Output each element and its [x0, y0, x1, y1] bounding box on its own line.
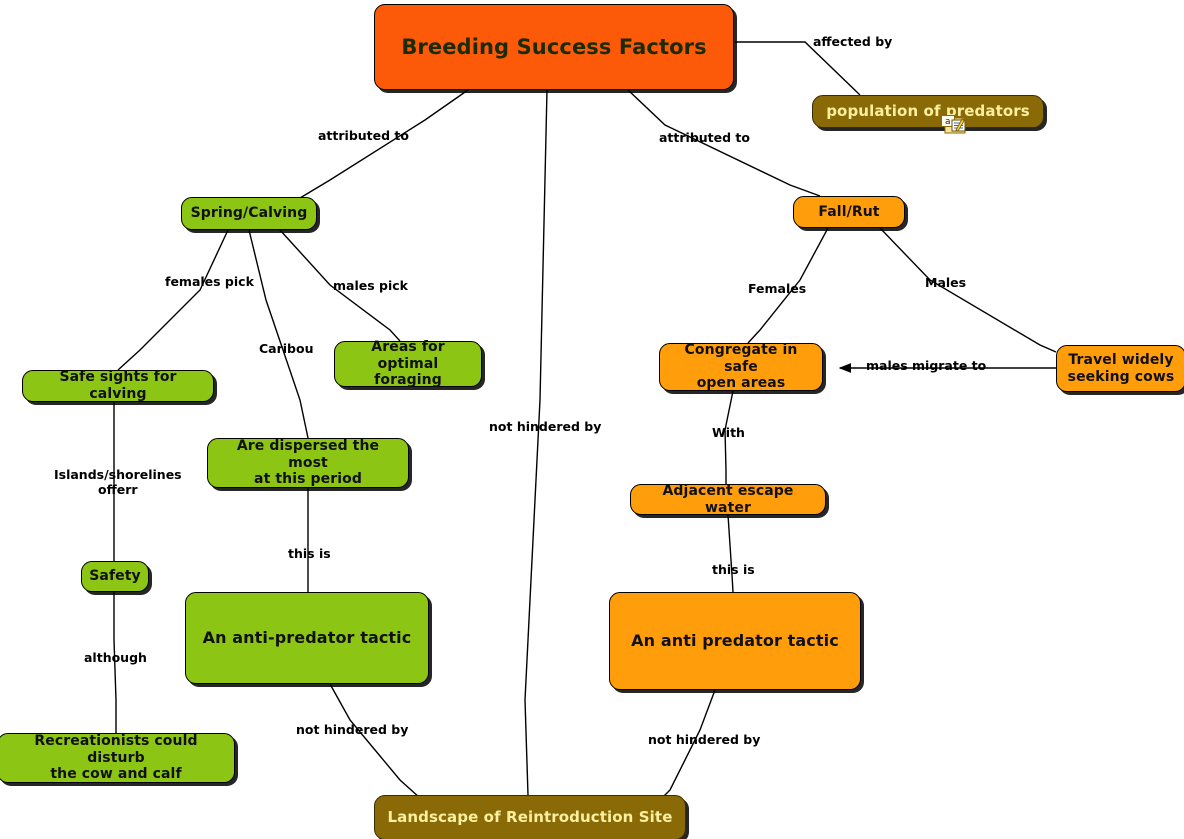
node-label: Areas for optimal foraging [344, 339, 472, 389]
node-label: An anti predator tactic [631, 632, 839, 651]
node-recreationists[interactable]: Recreationists could disturb the cow and… [0, 733, 235, 783]
edge-root-to-spring [300, 90, 468, 198]
node-label: Landscape of Reintroduction Site [388, 809, 673, 827]
edge-label-spring-to-dispersed[interactable]: Caribou [259, 342, 314, 357]
edge-label-root-to-predators[interactable]: affected by [813, 35, 892, 50]
node-root[interactable]: Breeding Success Factors [374, 4, 734, 90]
node-spring[interactable]: Spring/Calving [181, 197, 317, 230]
edge-label-spring-to-safe-sights[interactable]: females pick [165, 275, 254, 290]
edge-label-safe-sights-to-safety[interactable]: Islands/shorelines offerr [54, 468, 182, 498]
node-predators[interactable]: population of predators [812, 95, 1044, 128]
node-label: Travel widely seeking cows [1068, 352, 1175, 385]
edge-label-safety-to-recreationists[interactable]: although [84, 651, 147, 666]
edge-label-spring-to-areas-foraging[interactable]: males pick [333, 279, 408, 294]
node-fall[interactable]: Fall/Rut [793, 196, 905, 228]
node-label: An anti-predator tactic [203, 629, 412, 648]
node-landscape[interactable]: Landscape of Reintroduction Site [374, 795, 686, 839]
edge-root-to-predators [735, 42, 860, 95]
node-dispersed[interactable]: Are dispersed the most at this period [207, 438, 409, 488]
node-label: Recreationists could disturb the cow and… [7, 733, 225, 783]
edge-label-anti-predator-green-to-landscape[interactable]: not hindered by [296, 723, 408, 738]
node-label: Adjacent escape water [640, 483, 816, 516]
node-anti-predator-orange[interactable]: An anti predator tactic [609, 592, 861, 690]
edge-anti-predator-green-to-landscape [330, 684, 420, 798]
node-adjacent-water[interactable]: Adjacent escape water [630, 484, 826, 515]
edge-label-anti-predator-orange-to-landscape[interactable]: not hindered by [648, 733, 760, 748]
concept-map-canvas: Breeding Success Factorspopulation of pr… [0, 0, 1184, 839]
edge-label-root-to-landscape[interactable]: not hindered by [489, 420, 601, 435]
edge-label-travel-widely-to-congregate[interactable]: males migrate to [866, 359, 986, 374]
edge-label-root-to-fall[interactable]: attributed to [659, 131, 750, 146]
node-anti-predator-green[interactable]: An anti-predator tactic [185, 592, 429, 684]
node-areas-foraging[interactable]: Areas for optimal foraging [334, 341, 482, 387]
note-annotation-icon[interactable]: a [941, 115, 967, 137]
node-travel-widely[interactable]: Travel widely seeking cows [1056, 345, 1184, 392]
node-label: Safety [89, 568, 141, 585]
node-label: Fall/Rut [818, 204, 879, 221]
edge-label-dispersed-to-anti-predator-green[interactable]: this is [288, 547, 331, 562]
node-label: Are dispersed the most at this period [217, 438, 399, 488]
edge-label-adjacent-water-to-anti-predator-orange[interactable]: this is [712, 563, 755, 578]
node-congregate[interactable]: Congregate in safe open areas [659, 343, 823, 391]
node-label: Spring/Calving [191, 205, 308, 222]
edge-label-fall-to-congregate[interactable]: Females [748, 282, 806, 297]
edge-spring-to-safe-sights [118, 230, 228, 370]
edge-spring-to-dispersed [249, 230, 308, 438]
edge-root-to-landscape [525, 90, 547, 795]
node-label: population of predators [826, 103, 1030, 121]
svg-text:a: a [945, 117, 951, 127]
node-safe-sights[interactable]: Safe sights for calving [22, 370, 214, 402]
edge-fall-to-travel-widely [880, 228, 1056, 352]
edge-label-fall-to-travel-widely[interactable]: Males [925, 276, 966, 291]
node-label: Congregate in safe open areas [669, 342, 813, 392]
edge-adjacent-water-to-anti-predator-orange [728, 515, 733, 592]
edge-label-congregate-to-adjacent-water[interactable]: With [712, 426, 745, 441]
edge-label-root-to-spring[interactable]: attributed to [318, 129, 409, 144]
node-safety[interactable]: Safety [81, 561, 149, 592]
node-label: Safe sights for calving [32, 369, 204, 402]
node-label: Breeding Success Factors [401, 35, 706, 60]
